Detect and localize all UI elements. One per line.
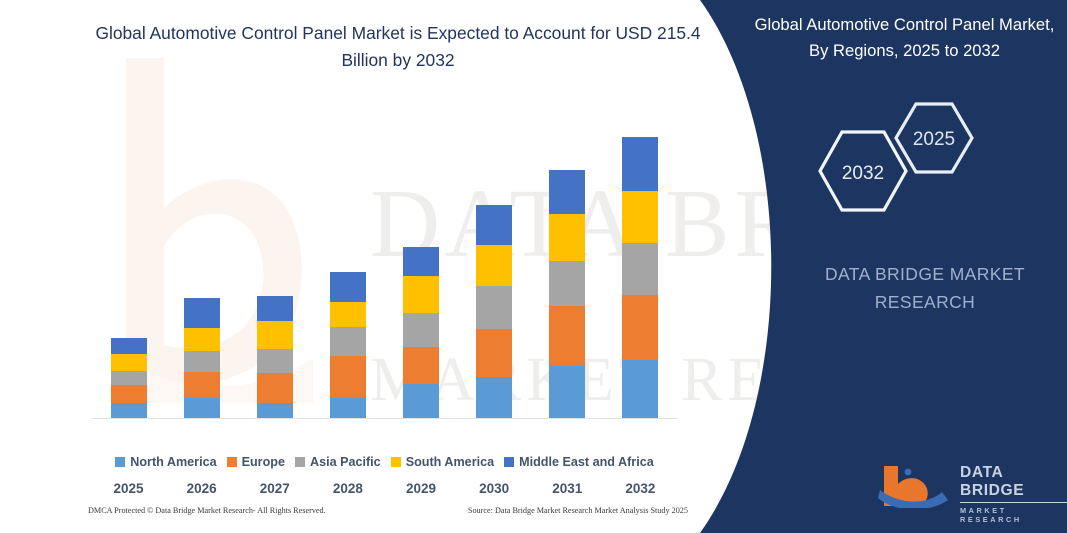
bar-segment-south-america [330,302,366,327]
legend-item-north-america[interactable]: North America [115,455,216,469]
legend-item-europe[interactable]: Europe [227,455,285,469]
brand-name-text: DATA BRIDGE MARKET RESEARCH [790,260,1060,316]
bar-segment-europe [184,372,220,398]
bar-segment-middle-east-and-africa [257,296,293,321]
bar-segment-asia-pacific [257,349,293,373]
legend-swatch-icon [227,457,237,467]
bar-column-2029 [385,66,457,418]
bar-segment-middle-east-and-africa [622,137,658,191]
bar-segment-middle-east-and-africa [111,338,147,354]
bar-segment-north-america [476,377,512,418]
legend-swatch-icon [504,457,514,467]
stacked-bar-chart: 20252026202720282029203020312032 [92,62,677,419]
bar-segment-asia-pacific [549,261,585,306]
legend-item-south-america[interactable]: South America [391,455,494,469]
bar-segment-south-america [403,276,439,313]
logo-primary-text: DATA BRIDGE [960,464,1067,503]
copyright-text: DMCA Protected © Data Bridge Market Rese… [88,506,326,515]
bar-segment-asia-pacific [330,327,366,356]
bar-segment-south-america [257,321,293,349]
hexagon-badges: 2025 2032 [810,92,990,217]
legend-item-asia-pacific[interactable]: Asia Pacific [295,455,381,469]
footer: DMCA Protected © Data Bridge Market Rese… [88,506,688,515]
legend-swatch-icon [295,457,305,467]
bar-segment-north-america [330,398,366,418]
bar-segment-north-america [257,403,293,418]
hexagon-2032-label: 2032 [842,163,884,184]
bar-segment-asia-pacific [184,351,220,371]
bar-column-2028 [312,66,384,418]
bar-segment-middle-east-and-africa [476,205,512,246]
bar-segment-south-america [111,354,147,371]
bar-segment-asia-pacific [403,313,439,347]
x-tick-label-2032: 2032 [604,481,676,496]
x-axis-line [92,418,677,419]
bar-column-2025 [93,66,165,418]
bar-segment-europe [622,295,658,360]
legend-swatch-icon [115,457,125,467]
bar-column-2026 [166,66,238,418]
x-tick-label-2025: 2025 [93,481,165,496]
x-tick-label-2029: 2029 [385,481,457,496]
brand-panel-title: Global Automotive Control Panel Market, … [752,12,1057,64]
chart-legend: North AmericaEuropeAsia PacificSouth Ame… [92,455,677,469]
bar-segment-north-america [184,398,220,418]
logo-secondary-text: MARKET RESEARCH [960,506,1067,524]
stacked-bar [330,272,366,418]
bar-column-2030 [458,66,530,418]
legend-label: Asia Pacific [310,455,381,469]
plot-area [92,66,677,419]
bar-column-2032 [604,66,676,418]
bar-segment-middle-east-and-africa [403,247,439,276]
x-tick-label-2031: 2031 [531,481,603,496]
legend-item-middle-east-and-africa[interactable]: Middle East and Africa [504,455,654,469]
bar-column-2031 [531,66,603,418]
bar-segment-middle-east-and-africa [330,272,366,301]
x-tick-label-2027: 2027 [239,481,311,496]
bar-segment-asia-pacific [111,371,147,386]
legend-swatch-icon [391,457,401,467]
infographic-canvas: DATA BRI MARKET RESEARCH Global Automoti… [0,0,1067,533]
bar-segment-south-america [549,214,585,261]
stacked-bar [622,137,658,418]
stacked-bar [476,205,512,418]
bar-column-2027 [239,66,311,418]
chart-panel: Global Automotive Control Panel Market i… [0,0,745,533]
bar-segment-north-america [111,403,147,418]
stacked-bar [184,298,220,418]
bar-segment-europe [549,306,585,366]
stacked-bar [403,247,439,418]
company-logo-text: DATA BRIDGE MARKET RESEARCH [960,464,1067,524]
bar-segment-north-america [549,366,585,418]
bar-segment-south-america [476,245,512,286]
stacked-bar [257,296,293,418]
stacked-bar [549,170,585,418]
bar-segment-asia-pacific [476,286,512,329]
bar-segment-europe [476,329,512,378]
bar-segment-south-america [622,191,658,243]
x-tick-label-2028: 2028 [312,481,384,496]
bar-segment-middle-east-and-africa [184,298,220,327]
bar-segment-europe [330,356,366,398]
bar-segment-middle-east-and-africa [549,170,585,214]
legend-label: North America [130,455,216,469]
bar-segment-north-america [622,360,658,418]
brand-name-line-2: RESEARCH [790,288,1060,316]
bar-group [92,66,677,418]
x-tick-label-2026: 2026 [166,481,238,496]
bar-segment-europe [403,347,439,384]
legend-label: Europe [242,455,285,469]
bar-segment-europe [257,373,293,403]
source-text: Source: Data Bridge Market Research Mark… [468,506,688,515]
bar-segment-south-america [184,328,220,352]
stacked-bar [111,338,147,418]
x-tick-label-2030: 2030 [458,481,530,496]
legend-label: Middle East and Africa [519,455,654,469]
legend-label: South America [406,455,494,469]
bar-segment-north-america [403,384,439,418]
bar-segment-asia-pacific [622,243,658,295]
brand-name-line-1: DATA BRIDGE MARKET [790,260,1060,288]
bar-segment-europe [111,385,147,403]
x-axis-labels: 20252026202720282029203020312032 [92,481,677,496]
hexagon-2025-label: 2025 [913,129,955,150]
